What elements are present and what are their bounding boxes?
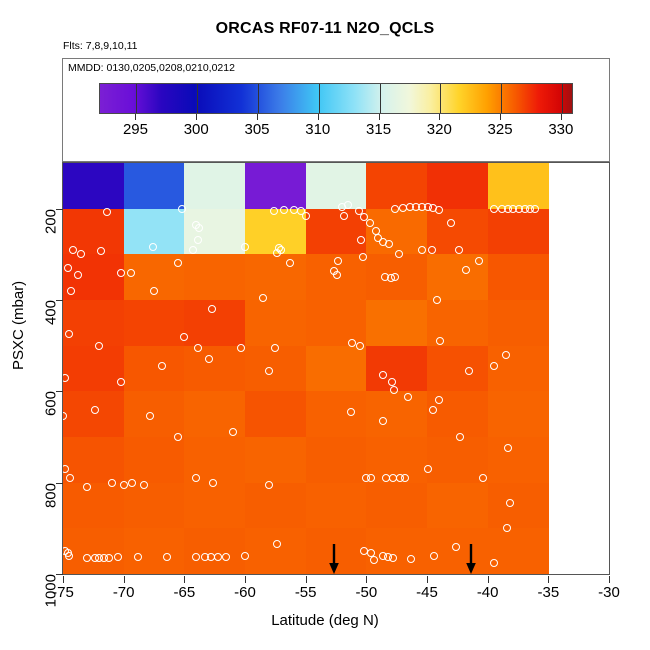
colorbar-gradient bbox=[99, 83, 573, 114]
data-point bbox=[344, 201, 352, 209]
data-point bbox=[506, 499, 514, 507]
data-point bbox=[77, 250, 85, 258]
data-point bbox=[64, 264, 72, 272]
data-point bbox=[407, 555, 415, 563]
y-tick-label: 200 bbox=[43, 209, 60, 234]
data-point bbox=[67, 287, 75, 295]
data-point bbox=[436, 337, 444, 345]
x-tick bbox=[245, 576, 246, 583]
heatmap-cell bbox=[427, 528, 488, 574]
heatmap-cell bbox=[184, 254, 245, 300]
data-point bbox=[462, 266, 470, 274]
data-point bbox=[370, 556, 378, 564]
data-point bbox=[146, 412, 154, 420]
data-point bbox=[149, 243, 157, 251]
x-tick bbox=[63, 576, 64, 583]
x-tick-label: -65 bbox=[173, 584, 195, 601]
data-point bbox=[357, 236, 365, 244]
data-point bbox=[194, 344, 202, 352]
colorbar-tick-label: 315 bbox=[366, 121, 391, 138]
colorbar[interactable]: 295300305310315320325330 bbox=[99, 83, 573, 114]
data-point bbox=[452, 543, 460, 551]
data-point bbox=[178, 205, 186, 213]
data-point bbox=[117, 378, 125, 386]
down-arrow-icon bbox=[327, 544, 341, 574]
x-tick-label: -60 bbox=[234, 584, 256, 601]
heatmap-cell bbox=[245, 483, 306, 529]
heatmap-cell bbox=[124, 528, 185, 574]
data-point bbox=[74, 271, 82, 279]
data-point bbox=[222, 553, 230, 561]
y-axis-title: PSXC (mbar) bbox=[10, 281, 27, 370]
data-point bbox=[531, 205, 539, 213]
flights-label: Flts: 7,8,9,10,11 bbox=[63, 40, 138, 52]
y-tick-label: 600 bbox=[43, 391, 60, 416]
data-point bbox=[271, 344, 279, 352]
data-point bbox=[97, 247, 105, 255]
data-point bbox=[229, 428, 237, 436]
y-tick-label: 400 bbox=[43, 300, 60, 325]
data-point bbox=[435, 396, 443, 404]
colorbar-tick bbox=[561, 114, 562, 120]
colorbar-tick bbox=[379, 114, 380, 120]
heatmap-cell bbox=[124, 437, 185, 483]
heatmap-cell bbox=[366, 300, 427, 346]
data-point bbox=[333, 271, 341, 279]
data-point bbox=[348, 339, 356, 347]
heatmap-cell bbox=[124, 300, 185, 346]
data-point bbox=[241, 243, 249, 251]
colorbar-tick-label: 295 bbox=[123, 121, 148, 138]
heatmap-cell bbox=[184, 528, 245, 574]
data-point bbox=[504, 444, 512, 452]
colorbar-tick-label: 300 bbox=[184, 121, 209, 138]
data-point bbox=[174, 259, 182, 267]
data-point bbox=[490, 205, 498, 213]
data-point bbox=[379, 371, 387, 379]
data-point bbox=[65, 552, 73, 560]
data-point bbox=[401, 474, 409, 482]
heatmap-cell bbox=[245, 437, 306, 483]
heatmap-cell bbox=[63, 528, 124, 574]
data-point bbox=[209, 479, 217, 487]
heatmap-cell bbox=[184, 346, 245, 392]
data-point bbox=[455, 246, 463, 254]
heatmap-cell bbox=[366, 346, 427, 392]
data-point bbox=[194, 236, 202, 244]
x-tick bbox=[609, 576, 610, 583]
colorbar-tick bbox=[257, 114, 258, 120]
data-point bbox=[390, 386, 398, 394]
data-point bbox=[91, 406, 99, 414]
data-point bbox=[447, 219, 455, 227]
data-point bbox=[366, 219, 374, 227]
heatmap-cell bbox=[488, 437, 549, 483]
data-point bbox=[180, 333, 188, 341]
data-point bbox=[66, 474, 74, 482]
data-point bbox=[418, 246, 426, 254]
data-point bbox=[404, 393, 412, 401]
data-point bbox=[359, 253, 367, 261]
colorbar-tick-label: 310 bbox=[305, 121, 330, 138]
heatmap-cell bbox=[306, 300, 367, 346]
data-point bbox=[503, 524, 511, 532]
data-point bbox=[140, 481, 148, 489]
data-point bbox=[114, 553, 122, 561]
data-point bbox=[334, 257, 342, 265]
x-tick-label: -55 bbox=[295, 584, 317, 601]
heatmap-cell bbox=[245, 254, 306, 300]
heatmap-cell bbox=[306, 483, 367, 529]
data-point bbox=[265, 481, 273, 489]
data-point bbox=[241, 552, 249, 560]
heatmap-cell bbox=[306, 346, 367, 392]
x-tick bbox=[366, 576, 367, 583]
data-point bbox=[95, 342, 103, 350]
data-point bbox=[430, 552, 438, 560]
heatmap-cell bbox=[245, 346, 306, 392]
colorbar-tick-label: 305 bbox=[244, 121, 269, 138]
data-point bbox=[302, 212, 310, 220]
data-point bbox=[490, 362, 498, 370]
heatmap-cell bbox=[427, 163, 488, 209]
colorbar-tick-label: 320 bbox=[427, 121, 452, 138]
x-axis-title: Latitude (deg N) bbox=[0, 612, 650, 629]
data-point bbox=[108, 479, 116, 487]
heatmap-cell bbox=[366, 163, 427, 209]
colorbar-tick bbox=[439, 114, 440, 120]
down-arrow-icon bbox=[464, 544, 478, 574]
data-point bbox=[435, 206, 443, 214]
heatmap-cell bbox=[306, 163, 367, 209]
data-point bbox=[208, 305, 216, 313]
data-point bbox=[286, 259, 294, 267]
colorbar-divider bbox=[319, 84, 320, 113]
y-tick-label: 1000 bbox=[43, 574, 60, 607]
heatmap-cell bbox=[184, 483, 245, 529]
data-point bbox=[69, 246, 77, 254]
y-tick-label: 800 bbox=[43, 483, 60, 508]
colorbar-tick bbox=[318, 114, 319, 120]
data-point bbox=[356, 342, 364, 350]
data-point bbox=[490, 559, 498, 567]
data-point bbox=[502, 351, 510, 359]
x-tick-label: -30 bbox=[598, 584, 620, 601]
heatmap-cell bbox=[366, 391, 427, 437]
x-tick bbox=[306, 576, 307, 583]
data-point bbox=[273, 540, 281, 548]
heatmap-cell bbox=[488, 528, 549, 574]
x-tick bbox=[427, 576, 428, 583]
heatmap-cell bbox=[306, 209, 367, 255]
colorbar-divider bbox=[258, 84, 259, 113]
heatmap-cell bbox=[63, 346, 124, 392]
data-point bbox=[192, 553, 200, 561]
data-point bbox=[340, 212, 348, 220]
colorbar-tick bbox=[500, 114, 501, 120]
heatmap-cell bbox=[63, 300, 124, 346]
x-tick-label: -45 bbox=[416, 584, 438, 601]
x-tick bbox=[124, 576, 125, 583]
data-point bbox=[429, 406, 437, 414]
heatmap-cell bbox=[245, 163, 306, 209]
x-tick-label: -50 bbox=[355, 584, 377, 601]
data-point bbox=[385, 240, 393, 248]
data-point bbox=[192, 474, 200, 482]
colorbar-tick bbox=[135, 114, 136, 120]
heatmap-cell bbox=[488, 163, 549, 209]
heatmap-cell bbox=[184, 163, 245, 209]
heatmap-cell bbox=[488, 346, 549, 392]
x-tick bbox=[488, 576, 489, 583]
x-tick-label: -70 bbox=[113, 584, 135, 601]
page-title: ORCAS RF07-11 N2O_QCLS bbox=[0, 20, 650, 38]
data-point bbox=[120, 481, 128, 489]
heatmap-cell bbox=[245, 391, 306, 437]
heatmap-cell bbox=[488, 483, 549, 529]
colorbar-tick-label: 330 bbox=[548, 121, 573, 138]
colorbar-divider bbox=[136, 84, 137, 113]
data-point bbox=[265, 367, 273, 375]
data-point bbox=[163, 553, 171, 561]
data-point bbox=[395, 250, 403, 258]
heatmap-cell bbox=[488, 391, 549, 437]
heatmap-cell bbox=[124, 346, 185, 392]
data-point bbox=[128, 479, 136, 487]
data-point bbox=[237, 344, 245, 352]
data-point bbox=[433, 296, 441, 304]
colorbar-tick bbox=[196, 114, 197, 120]
data-point bbox=[105, 554, 113, 562]
plot-area[interactable]: -75-70-65-60-55-50-45-40-35-30 200400600… bbox=[62, 162, 610, 575]
heatmap-cell bbox=[63, 163, 124, 209]
heatmap-cell bbox=[124, 483, 185, 529]
heatmap-cell bbox=[63, 483, 124, 529]
heatmap-cell bbox=[427, 483, 488, 529]
heatmap-cell bbox=[488, 209, 549, 255]
data-point bbox=[391, 273, 399, 281]
colorbar-tick-label: 325 bbox=[488, 121, 513, 138]
data-point bbox=[103, 208, 111, 216]
data-point bbox=[367, 474, 375, 482]
heatmap-cell bbox=[63, 391, 124, 437]
data-point bbox=[379, 417, 387, 425]
colorbar-divider bbox=[197, 84, 198, 113]
mmdd-label: MMDD: 0130,0205,0208,0210,0212 bbox=[68, 62, 235, 74]
data-point bbox=[174, 433, 182, 441]
heatmap-cell bbox=[245, 300, 306, 346]
heatmap-cell bbox=[306, 437, 367, 483]
data-point bbox=[83, 483, 91, 491]
data-point bbox=[195, 224, 203, 232]
data-point bbox=[428, 246, 436, 254]
heatmap-cell bbox=[124, 163, 185, 209]
heatmap-cell bbox=[366, 528, 427, 574]
data-point bbox=[259, 294, 267, 302]
data-point bbox=[127, 269, 135, 277]
heatmap-canvas bbox=[63, 163, 609, 574]
x-tick-label: -35 bbox=[537, 584, 559, 601]
heatmap-cell bbox=[488, 254, 549, 300]
heatmap-cell bbox=[427, 346, 488, 392]
chart-root: ORCAS RF07-11 N2O_QCLS Flts: 7,8,9,10,11… bbox=[0, 0, 650, 650]
data-point bbox=[475, 257, 483, 265]
x-tick bbox=[548, 576, 549, 583]
data-point bbox=[134, 553, 142, 561]
x-tick bbox=[184, 576, 185, 583]
data-point bbox=[273, 249, 281, 257]
data-point bbox=[347, 408, 355, 416]
data-point bbox=[150, 287, 158, 295]
data-point bbox=[424, 465, 432, 473]
heatmap-cell bbox=[124, 391, 185, 437]
colorbar-divider bbox=[440, 84, 441, 113]
data-point bbox=[465, 367, 473, 375]
x-tick-label: -40 bbox=[477, 584, 499, 601]
colorbar-divider bbox=[380, 84, 381, 113]
data-point bbox=[205, 355, 213, 363]
heatmap-cell bbox=[245, 528, 306, 574]
data-point bbox=[270, 207, 278, 215]
heatmap-cell bbox=[306, 391, 367, 437]
data-point bbox=[388, 378, 396, 386]
heatmap-cell bbox=[366, 483, 427, 529]
data-point bbox=[456, 433, 464, 441]
colorbar-divider bbox=[501, 84, 502, 113]
heatmap-cell bbox=[488, 300, 549, 346]
data-point bbox=[65, 330, 73, 338]
data-point bbox=[389, 554, 397, 562]
data-point bbox=[280, 206, 288, 214]
data-point bbox=[117, 269, 125, 277]
colorbar-divider bbox=[562, 84, 563, 113]
data-point bbox=[189, 246, 197, 254]
data-point bbox=[479, 474, 487, 482]
data-point bbox=[158, 362, 166, 370]
